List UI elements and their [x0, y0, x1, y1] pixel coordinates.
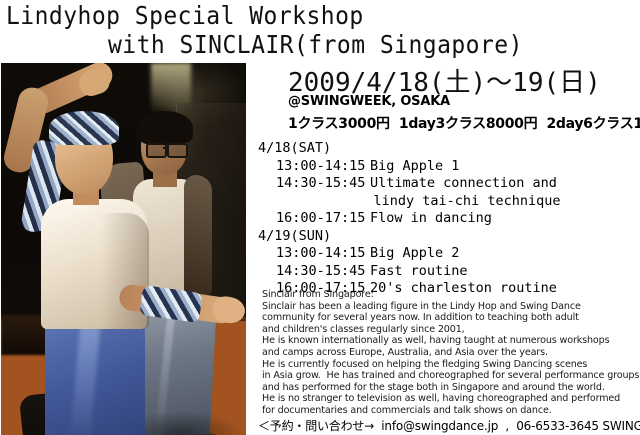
- photo-man-glasses-left: [146, 143, 167, 158]
- session-title: Flow in dancing: [370, 210, 492, 226]
- session-title: Ultimate connection and: [370, 175, 557, 191]
- bio-line: in Asia grow. He has trained and choreog…: [262, 370, 640, 382]
- session-time: 14:30-15:45: [276, 263, 370, 281]
- event-venue: @SWINGWEEK, OSAKA: [288, 94, 450, 109]
- bio-line: He is no stranger to television as well,…: [262, 393, 640, 405]
- bio-line: and camps across Europe, Australia, and …: [262, 347, 640, 359]
- workshop-schedule: 4/18(SAT) 13:00-14:15Big Apple 1 14:30-1…: [258, 140, 560, 298]
- session-title: Big Apple 2: [370, 245, 459, 261]
- session-time: 16:00-17:15: [276, 210, 370, 228]
- bio-line: and has performed for the stage both in …: [262, 382, 640, 394]
- poster-flyer: Lindyhop Special Workshop with SINCLAIR(…: [0, 0, 640, 435]
- session-title: Big Apple 1: [370, 158, 459, 174]
- photo-man-glasses-bridge: [163, 147, 168, 149]
- bio-heading: Sinclair from Singapore:: [262, 289, 640, 301]
- photo-man-jacket-right: [184, 175, 212, 295]
- schedule-day-heading: 4/19(SUN): [258, 228, 560, 246]
- session-title-continued: lindy tai-chi technique: [258, 193, 560, 211]
- schedule-session: 14:30-15:45Ultimate connection and: [258, 175, 560, 193]
- instructor-bio: Sinclair from Singapore: Sinclair has be…: [262, 289, 640, 417]
- bio-line: community for several years now. In addi…: [262, 312, 640, 324]
- session-time: 14:30-15:45: [276, 175, 370, 193]
- session-time: 13:00-14:15: [276, 158, 370, 176]
- schedule-session: 13:00-14:15Big Apple 1: [258, 158, 560, 176]
- poster-title-line-1: Lindyhop Special Workshop: [6, 1, 364, 30]
- schedule-session: 13:00-14:15Big Apple 2: [258, 245, 560, 263]
- contact-line: ＜予約・問い合わせ→ info@swingdance.jp , 06-6533-…: [258, 417, 640, 434]
- bio-line: and children's classes regularly since 2…: [262, 324, 640, 336]
- schedule-day-block: 4/19(SUN) 13:00-14:15Big Apple 2 14:30-1…: [258, 228, 560, 298]
- photo-man-glasses-right: [167, 143, 188, 158]
- photo-man-hair: [137, 111, 193, 145]
- poster-title-line-2: with SINCLAIR(from Singapore): [108, 30, 523, 59]
- schedule-session: 14:30-15:45Fast routine: [258, 263, 560, 281]
- bio-line: Sinclair has been a leading figure in th…: [262, 301, 640, 313]
- dancers-photo: [1, 63, 246, 435]
- schedule-session: 16:00-17:15Flow in dancing: [258, 210, 560, 228]
- bio-line: for documentaries and commercials and ta…: [262, 405, 640, 417]
- schedule-day-heading: 4/18(SAT): [258, 140, 560, 158]
- schedule-day-block: 4/18(SAT) 13:00-14:15Big Apple 1 14:30-1…: [258, 140, 560, 228]
- session-title: Fast routine: [370, 263, 468, 279]
- bio-line: He is known internationally as well, hav…: [262, 335, 640, 347]
- event-pricing: 1クラス3000円 1day3クラス8000円 2day6クラス14000円: [288, 113, 640, 133]
- bio-line: He is currently focused on helping the f…: [262, 359, 640, 371]
- session-time: 13:00-14:15: [276, 245, 370, 263]
- photo-woman-headscarf: [49, 111, 119, 145]
